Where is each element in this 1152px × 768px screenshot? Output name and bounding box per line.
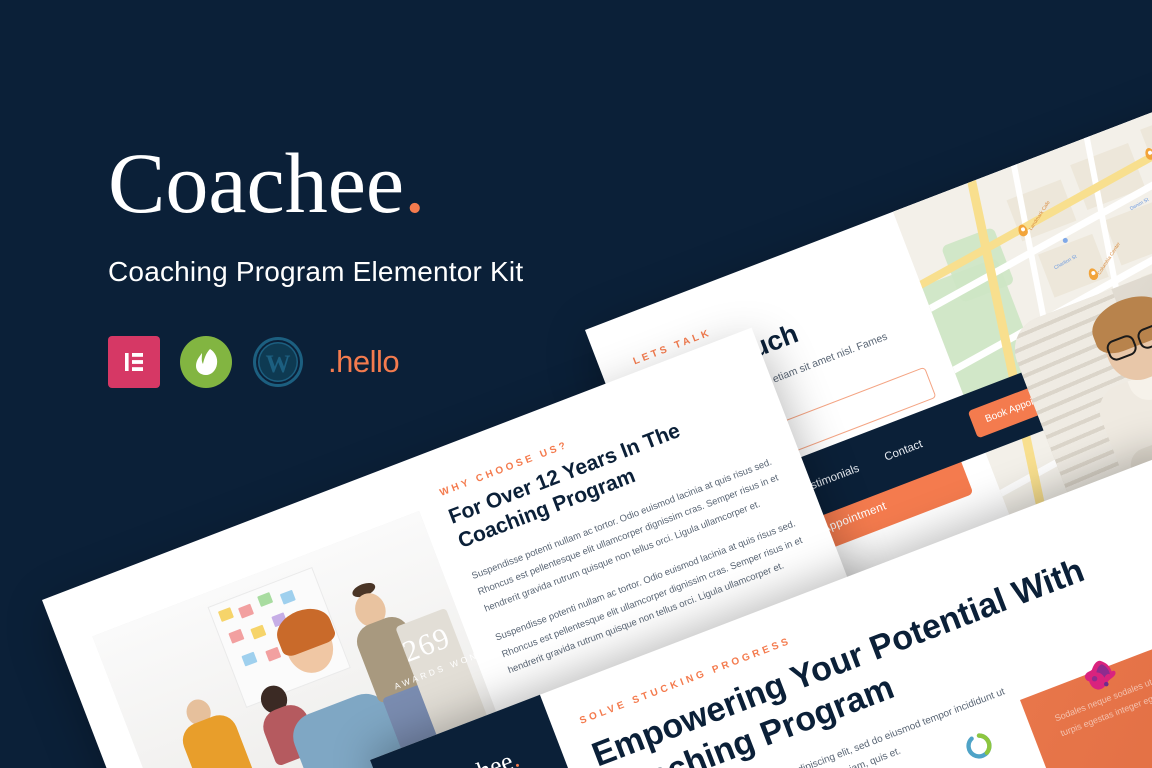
svg-text:W: W: [266, 351, 291, 378]
splash-mark-icon: [1082, 658, 1118, 694]
hero-logo: Coachee.: [423, 744, 523, 768]
badge-row: W .hello: [108, 336, 523, 388]
page-subtitle: Coaching Program Elementor Kit: [108, 256, 523, 288]
wordpress-icon: W: [252, 336, 304, 388]
page-title: Coachee.: [108, 140, 523, 226]
title-accent-dot: .: [404, 135, 426, 231]
wordpress-badge: W: [252, 336, 304, 388]
ring-mark-icon: [966, 733, 992, 759]
envato-icon: [193, 347, 219, 377]
envato-badge: [180, 336, 232, 388]
nav-item-contact[interactable]: Contact: [883, 438, 924, 463]
elementor-badge: [108, 336, 160, 388]
elementor-icon: [122, 350, 146, 374]
title-block: Coachee. Coaching Program Elementor Kit …: [108, 140, 523, 388]
hello-theme-label: .hello: [328, 344, 399, 380]
